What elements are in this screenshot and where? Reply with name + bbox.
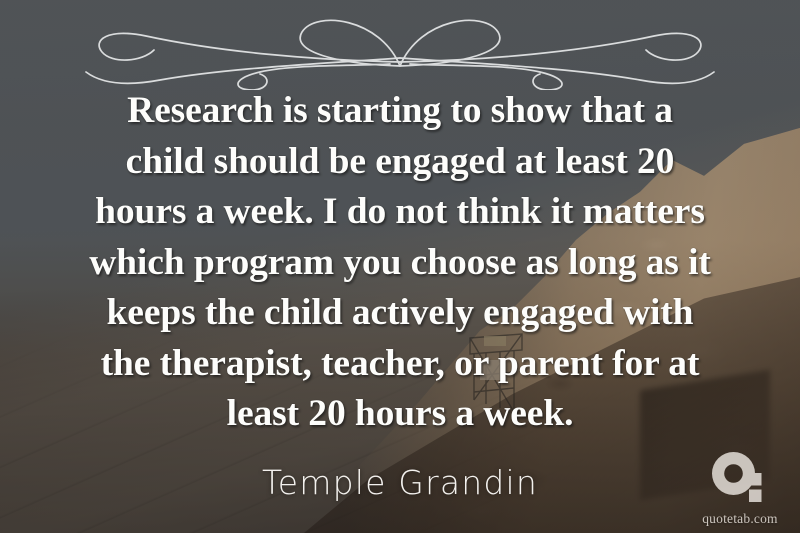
quotetab-q-logo-icon: [711, 451, 769, 509]
watermark-site-label: quotetab.com: [688, 511, 792, 527]
author-name: Temple Grandin: [0, 463, 800, 502]
quote-line: keeps the child actively engaged with: [14, 288, 786, 339]
quote-line: Research is starting to show that a: [14, 86, 786, 137]
quote-line: child should be engaged at least 20: [14, 137, 786, 188]
quote-line: hours a week. I do not think it matters: [14, 187, 786, 238]
quote-line: the therapist, teacher, or parent for at: [14, 339, 786, 390]
watermark[interactable]: quotetab.com: [688, 451, 792, 527]
quote-image: Research is starting to show that a chil…: [0, 0, 800, 533]
quote-line: least 20 hours a week.: [14, 389, 786, 440]
quote-text: Research is starting to show that a chil…: [0, 86, 800, 440]
flourish-divider-icon: [80, 6, 720, 90]
quote-line: which program you choose as long as it: [14, 238, 786, 289]
